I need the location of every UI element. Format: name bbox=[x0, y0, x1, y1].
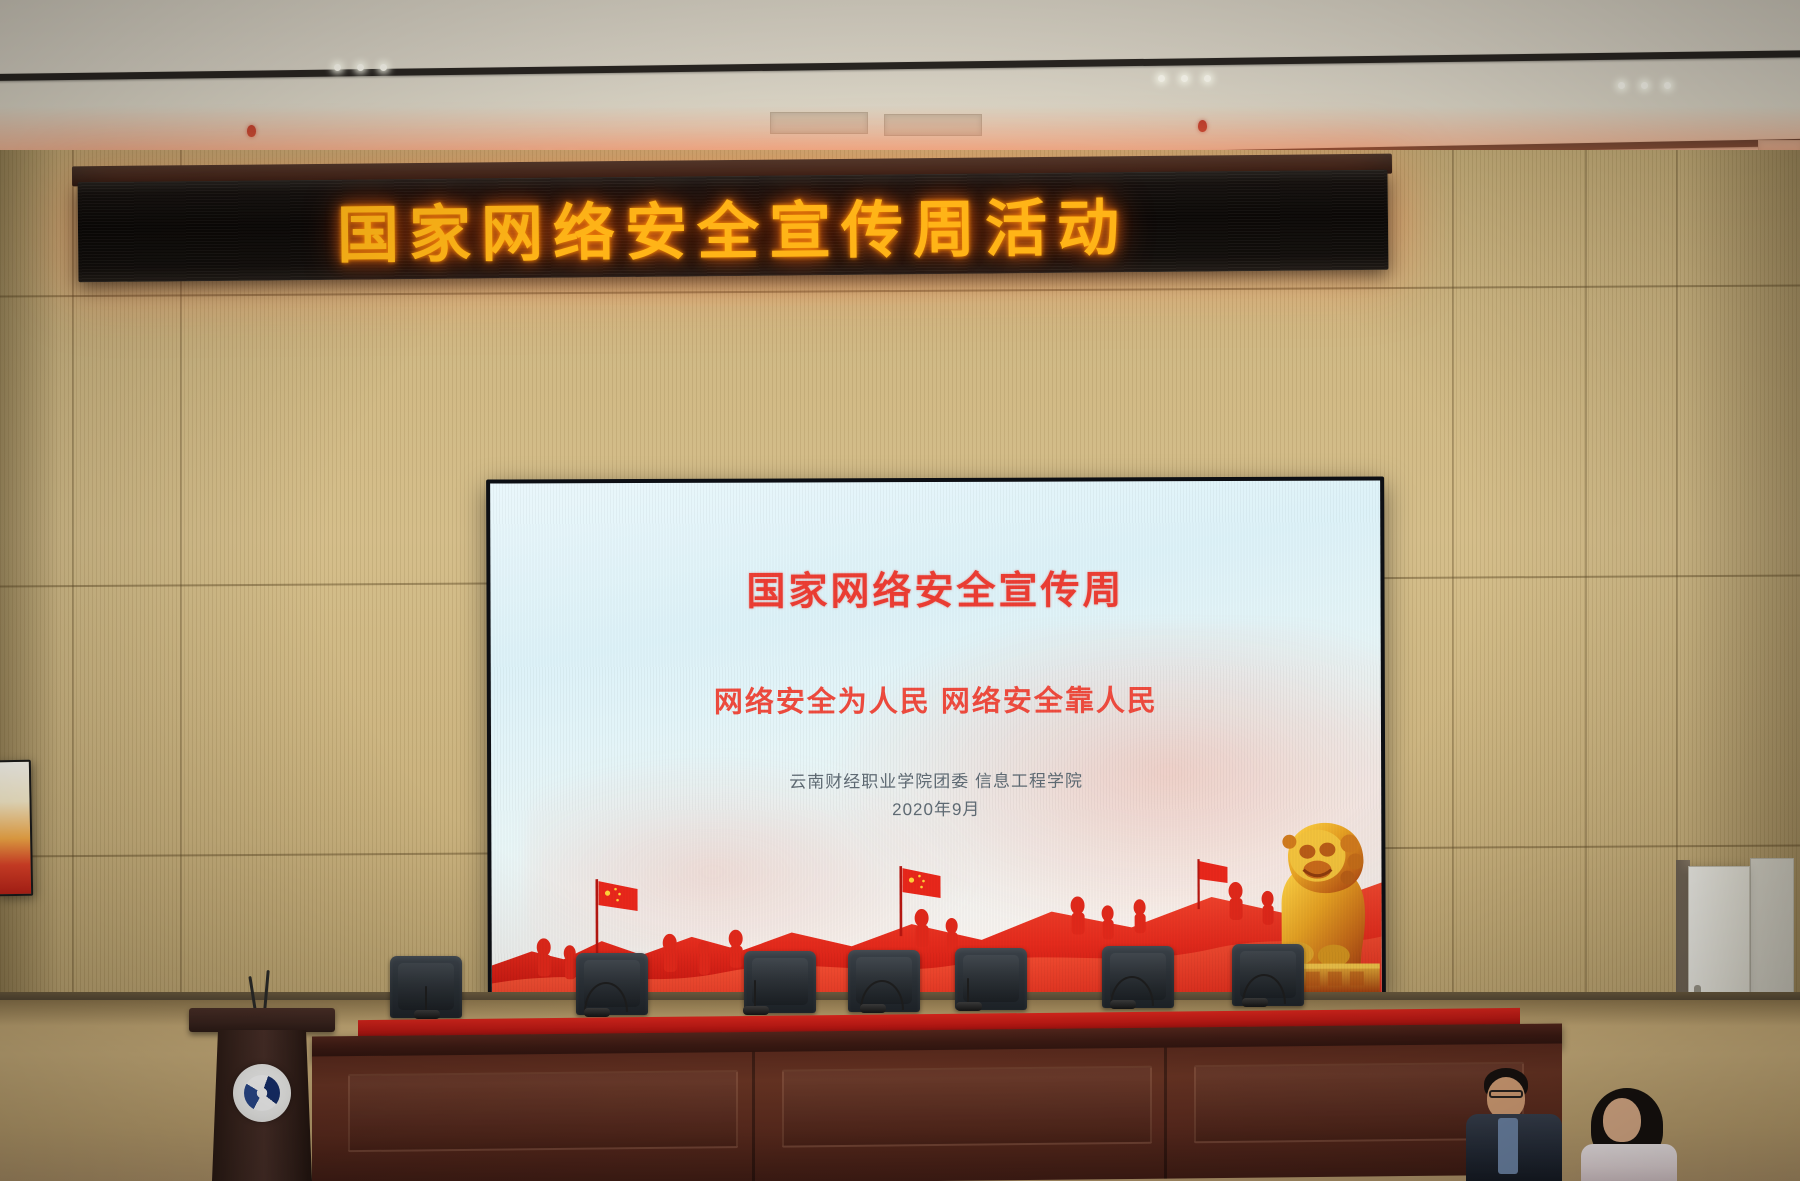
table-microphone[interactable] bbox=[1110, 1000, 1136, 1009]
table-microphone[interactable] bbox=[584, 1008, 610, 1017]
ceiling-light-icon bbox=[1618, 82, 1625, 89]
ceiling-light-icon bbox=[357, 64, 364, 71]
ceiling-light-icon bbox=[380, 64, 387, 71]
table-microphone[interactable] bbox=[1242, 998, 1268, 1007]
ceiling-light-icon bbox=[1158, 75, 1165, 82]
table-microphone-stem bbox=[425, 986, 427, 1012]
glasses-icon bbox=[1489, 1090, 1523, 1098]
wall-seam bbox=[0, 285, 1800, 298]
speaker-podium[interactable] bbox=[207, 1008, 317, 1181]
side-display-panel bbox=[0, 760, 33, 897]
wall-seam bbox=[1585, 150, 1587, 1010]
face bbox=[1603, 1098, 1641, 1142]
led-banner-text: 国家网络安全宣传周活动 bbox=[78, 170, 1389, 283]
ceiling-light-icon bbox=[1664, 82, 1671, 89]
ceiling-light-rail-upper bbox=[0, 50, 1800, 81]
main-led-screen[interactable]: 国家网络安全宣传周 网络安全为人民 网络安全靠人民 云南财经职业学院团委 信息工… bbox=[486, 476, 1386, 999]
face bbox=[1487, 1077, 1525, 1119]
table-chair[interactable] bbox=[955, 948, 1027, 1010]
ceiling-light-icon bbox=[334, 64, 341, 71]
torso bbox=[1581, 1144, 1677, 1181]
auditorium-scene: 国家网络安全宣传周活动 国家网络安全宣传周 网络安全为人民 网络安全靠人民 云南… bbox=[0, 0, 1800, 1181]
wall-seam bbox=[1452, 150, 1454, 1010]
ceiling-light-icon bbox=[1204, 75, 1211, 82]
led-banner: 国家网络安全宣传周活动 bbox=[78, 170, 1389, 283]
table-panel-inset bbox=[348, 1070, 738, 1152]
ceiling-light-icon bbox=[1641, 82, 1648, 89]
ceiling-light-icon bbox=[1181, 75, 1188, 82]
person-man bbox=[1460, 1068, 1570, 1181]
podium-emblem-icon bbox=[233, 1064, 291, 1122]
slide-subtitle: 网络安全为人民 网络安全靠人民 bbox=[491, 676, 1381, 721]
slide-title: 国家网络安全宣传周 bbox=[490, 558, 1380, 617]
head-table bbox=[312, 1000, 1562, 1181]
presentation-slide: 国家网络安全宣传周 网络安全为人民 网络安全靠人民 云南财经职业学院团委 信息工… bbox=[490, 480, 1382, 995]
table-front-panel bbox=[312, 1043, 1562, 1181]
wall-seam bbox=[72, 150, 74, 1010]
table-panel-inset bbox=[782, 1066, 1152, 1148]
person-woman bbox=[1573, 1088, 1683, 1181]
table-panel-divider bbox=[1164, 1048, 1167, 1179]
table-panel-divider bbox=[752, 1052, 755, 1181]
shirt bbox=[1498, 1118, 1518, 1174]
table-microphone[interactable] bbox=[860, 1004, 886, 1013]
table-microphone[interactable] bbox=[956, 1002, 982, 1011]
table-microphone[interactable] bbox=[414, 1010, 440, 1019]
table-microphone[interactable] bbox=[743, 1006, 769, 1015]
